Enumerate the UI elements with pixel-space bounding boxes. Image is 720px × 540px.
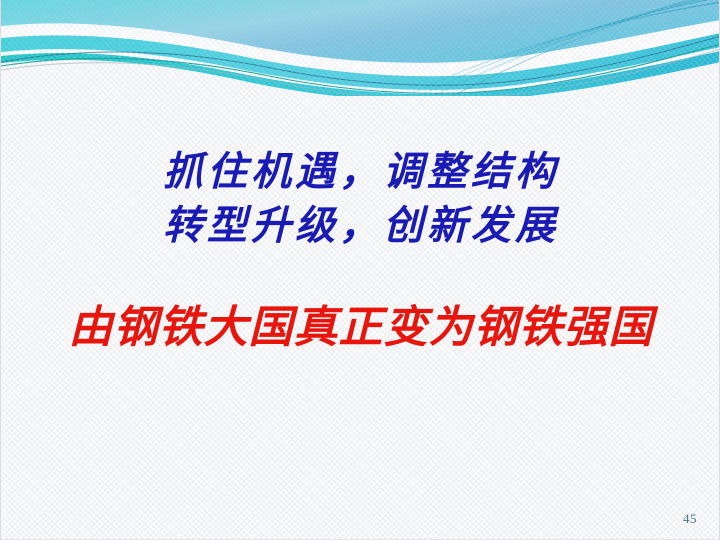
slide-content: 抓住机遇，调整结构 转型升级，创新发展 由钢铁大国真正变为钢铁强国 [1,0,719,539]
headline-line-1: 抓住机遇，调整结构 [1,152,720,192]
headline-emphasis-red: 由钢铁大国真正变为钢铁强国 [1,306,720,350]
presentation-slide: 抓住机遇，调整结构 转型升级，创新发展 由钢铁大国真正变为钢铁强国 45 [0,0,720,540]
headline-line-2: 转型升级，创新发展 [1,206,720,246]
slide-page-number: 45 [683,511,697,527]
